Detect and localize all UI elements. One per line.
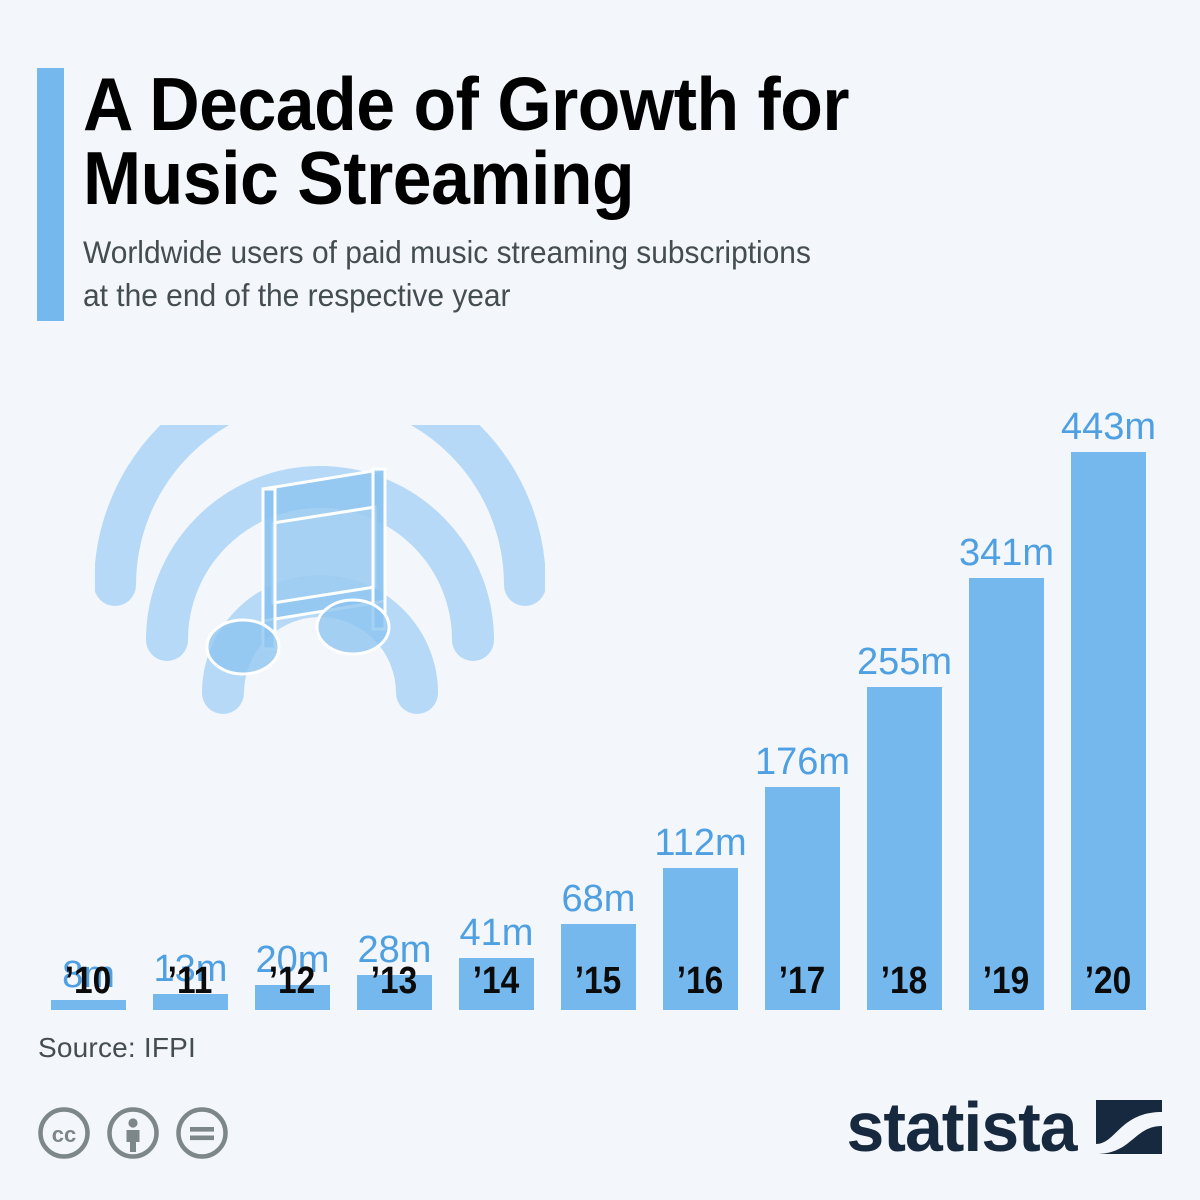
bar-group-5[interactable]: 68m [561, 55, 636, 1010]
x-label-2018: ’18 [856, 960, 953, 1003]
cc-by-icon[interactable] [106, 1106, 160, 1160]
bar-value-label: 341m [937, 532, 1077, 575]
x-label-2013: ’13 [346, 960, 443, 1003]
cc-icon[interactable]: cc [37, 1106, 91, 1160]
bar-value-label: 112m [631, 822, 771, 865]
x-label-2015: ’15 [550, 960, 647, 1003]
bar-group-10[interactable]: 443m [1071, 55, 1146, 1010]
bar-value-label: 176m [733, 741, 873, 784]
x-label-2014: ’14 [448, 960, 545, 1003]
bar-group-0[interactable]: 8m [51, 55, 126, 1010]
x-label-2012: ’12 [244, 960, 341, 1003]
statista-mark-icon [1094, 1092, 1164, 1162]
bar-group-6[interactable]: 112m [663, 55, 738, 1010]
bar-group-3[interactable]: 28m [357, 55, 432, 1010]
infographic-root: A Decade of Growth for Music Streaming W… [0, 0, 1200, 1200]
x-label-2017: ’17 [754, 960, 851, 1003]
x-label-2016: ’16 [652, 960, 749, 1003]
license-icons: cc [37, 1106, 229, 1160]
x-label-2020: ’20 [1060, 960, 1157, 1003]
statista-wordmark: statista [846, 1092, 1076, 1162]
x-label-2019: ’19 [958, 960, 1055, 1003]
bar-group-4[interactable]: 41m [459, 55, 534, 1010]
bar-group-8[interactable]: 255m [867, 55, 942, 1010]
statista-logo[interactable]: statista [843, 1092, 1164, 1162]
bar[interactable] [1071, 452, 1146, 1010]
x-label-2010: ’10 [40, 960, 137, 1003]
x-label-2011: ’11 [142, 960, 239, 1003]
bar-chart: 8m 13m 20m 28m 41m 68m 112m 176m [0, 0, 1200, 1010]
svg-text:cc: cc [52, 1122, 76, 1147]
bar-value-label: 443m [1039, 406, 1179, 449]
bar-group-9[interactable]: 341m [969, 55, 1044, 1010]
bar-value-label: 68m [529, 878, 669, 921]
bar[interactable] [969, 578, 1044, 1010]
x-axis-labels: ’10 ’11 ’12 ’13 ’14 ’15 ’16 ’17 ’18 ’19 … [0, 960, 1200, 1008]
bar-group-2[interactable]: 20m [255, 55, 330, 1010]
bar-value-label: 255m [835, 641, 975, 684]
bar-group-7[interactable]: 176m [765, 55, 840, 1010]
cc-nd-icon[interactable] [175, 1106, 229, 1160]
bar-group-1[interactable]: 13m [153, 55, 228, 1010]
source-note: Source: IFPI [38, 1032, 196, 1064]
